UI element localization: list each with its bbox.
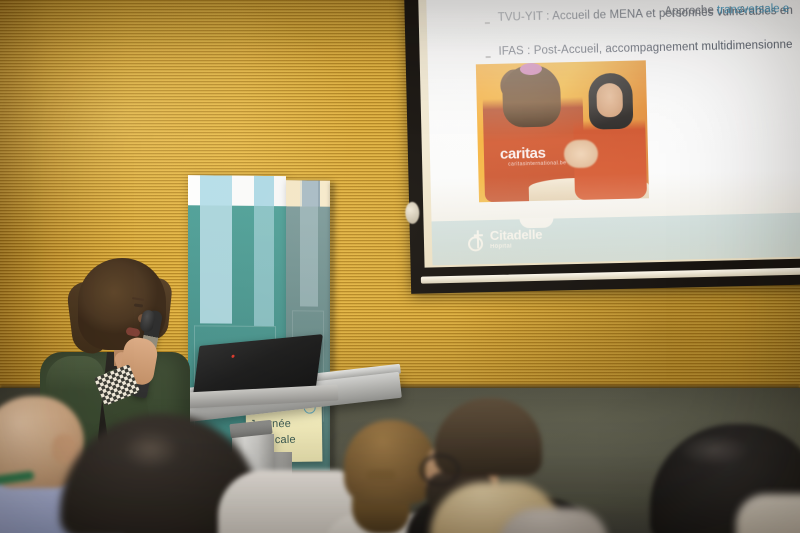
citadelle-name: Citadelle <box>490 228 543 242</box>
projected-slide: Shelter : Accueil de MENA en demande de … <box>426 0 800 265</box>
slide-side-text-accent: transversale e <box>717 3 789 17</box>
audience-torso <box>736 494 800 533</box>
audience-gray-hair <box>498 508 608 533</box>
banner-stripe-right <box>254 176 274 326</box>
caritas-photo: caritas caritasinternational.be <box>476 60 649 202</box>
audience-head <box>498 508 608 533</box>
citadelle-logo: Citadelle Hôpital <box>468 228 543 251</box>
speaker-shoulder-highlight <box>46 356 104 390</box>
photo-hands <box>564 139 599 168</box>
audience-hair-highlight <box>678 434 750 466</box>
citadelle-sub: Hôpital <box>490 243 543 250</box>
presenter-laptop[interactable] <box>193 334 333 415</box>
photo-face <box>596 83 623 118</box>
audience-pale-shoulder <box>736 494 800 533</box>
presentation-photo-scene: Shelter : Accueil de MENA en demande de … <box>0 0 800 533</box>
laptop-logo-dot-icon <box>231 355 234 358</box>
citadelle-mark-icon <box>468 230 485 250</box>
slide-side-text-plain: Approche <box>664 5 717 18</box>
slide-bullet: IFAS : Post-Accueil, accompagnement mult… <box>485 38 800 58</box>
bullet-dash-icon <box>485 22 490 24</box>
banner-side-stripe <box>300 180 318 306</box>
projection-screen: Shelter : Accueil de MENA en demande de … <box>404 0 800 294</box>
audience-hair-tie <box>366 470 396 481</box>
slide-footer-band: Citadelle Hôpital <box>432 212 800 266</box>
bullet-dash-icon <box>486 56 491 58</box>
slide-bullet-text: IFAS : Post-Accueil, accompagnement mult… <box>498 39 792 58</box>
citadelle-wordmark: Citadelle Hôpital <box>490 228 543 250</box>
audience-hair-highlight <box>122 430 180 470</box>
